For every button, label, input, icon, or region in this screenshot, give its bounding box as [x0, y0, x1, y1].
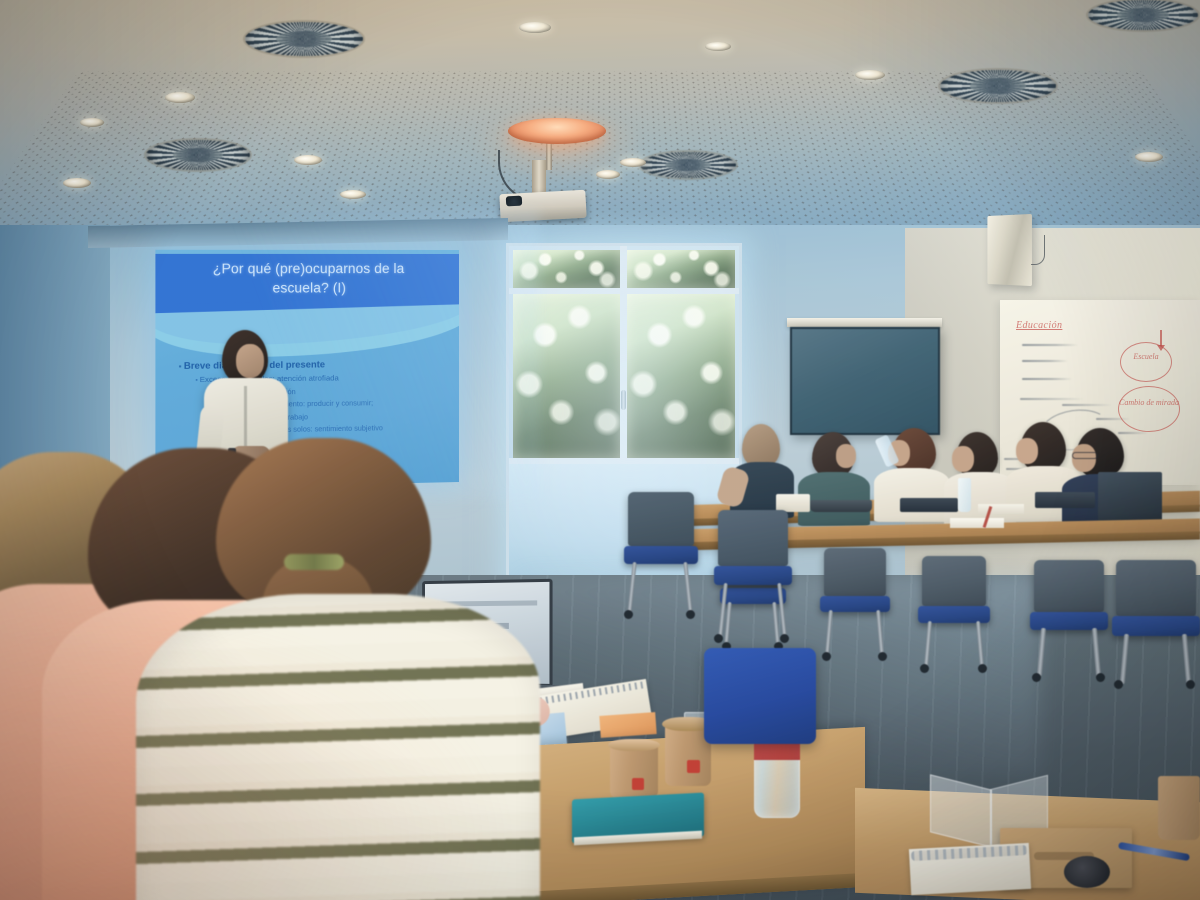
classroom-photo-scene: Educación Escuela Cambio de mirada [0, 0, 1200, 900]
lens-vignette [0, 0, 1200, 900]
